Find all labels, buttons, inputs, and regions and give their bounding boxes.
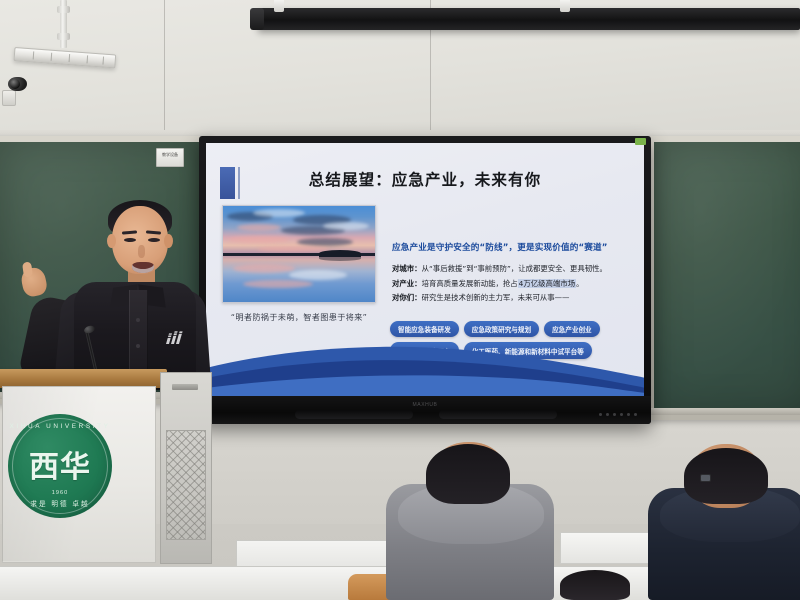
lecture-hall-photo: 教学设备 总结展望：应急产业，未来有你 xyxy=(0,0,800,600)
projector-screen-case xyxy=(258,8,800,30)
slide-wave-decor xyxy=(206,338,644,396)
university-emblem: XIHUA UNIVERSITY 西华 1960 求是 明德 卓越 xyxy=(8,414,112,518)
bullet-students-text: 研究生是技术创新的主力军，未来可从事—— xyxy=(422,293,570,302)
camera-lens-icon xyxy=(10,79,20,89)
speaker-ear xyxy=(164,234,173,248)
chalkboard-right xyxy=(648,136,800,420)
bullet-industry-highlight: 4万亿级高端市场 xyxy=(518,279,576,288)
pill-item: 智能应急装备研发 xyxy=(390,321,459,337)
display-vent xyxy=(295,410,413,419)
slide-lead-statement: 应急产业是守护安全的“防线”，更是实现价值的“赛道” xyxy=(392,241,636,253)
emblem-arc-text: XIHUA UNIVERSITY xyxy=(8,423,112,430)
ceiling-light-joint xyxy=(57,6,70,13)
pill-row: 智能应急装备研发 应急政策研究与规划 应急产业创业 xyxy=(390,321,644,337)
speaker-ear xyxy=(107,234,116,248)
bullet-students: 对你们：研究生是技术创新的主力军，未来可从事—— xyxy=(392,294,642,303)
pill-item: 应急政策研究与规划 xyxy=(464,321,539,337)
smart-display[interactable]: 总结展望：应急产业，未来有你 “明者 xyxy=(199,136,651,424)
adidas-logo-icon xyxy=(166,330,188,344)
board-equipment-label: 教学设备 xyxy=(156,148,184,167)
display-bezel: MAXHUB xyxy=(199,396,651,424)
screen-case-bracket xyxy=(560,0,570,12)
slide-bullet-list: 对城市：从“事后救援”到“事前预防”，让成都更安全、更具韧性。 对产业：培育高质… xyxy=(392,265,642,309)
wall-seam xyxy=(164,0,165,150)
ceiling-light-joint xyxy=(57,33,70,40)
emblem-year: 1960 xyxy=(8,490,112,496)
chalk-tray xyxy=(648,408,800,415)
bullet-industry-label: 对产业： xyxy=(392,279,422,288)
glasses-icon xyxy=(700,474,711,482)
cabinet-handle[interactable] xyxy=(172,384,198,390)
speaker-eye xyxy=(124,238,136,242)
audience-member-bottom xyxy=(560,570,630,600)
slide-title: 总结展望：应急产业，未来有你 xyxy=(206,168,644,190)
display-vent xyxy=(439,410,557,419)
audience-hair xyxy=(426,444,510,504)
speaker-eye xyxy=(148,238,160,242)
bullet-city: 对城市：从“事后救援”到“事前预防”，让成都更安全、更具韧性。 xyxy=(392,265,642,274)
audience-hair xyxy=(684,448,768,504)
sunset-lake-photo xyxy=(222,205,376,303)
screen-case-bracket xyxy=(274,0,284,12)
bullet-industry-text: 培育高质量发展新动能，抢占 xyxy=(422,279,518,288)
display-power-indicator xyxy=(635,138,646,145)
bullet-industry-tail: 。 xyxy=(576,279,583,288)
presentation-slide: 总结展望：应急产业，未来有你 “明者 xyxy=(206,143,644,396)
emblem-motto: 求是 明德 卓越 xyxy=(8,498,112,508)
camera-mount xyxy=(2,90,16,106)
bullet-students-label: 对你们： xyxy=(392,293,422,302)
bullet-city-text: 从“事后救援”到“事前预防”，让成都更安全、更具韧性。 xyxy=(422,264,607,273)
speaker-nose xyxy=(138,245,145,258)
screen-case-end xyxy=(250,8,264,30)
bullet-industry: 对产业：培育高质量发展新动能，抢占4万亿级高端市场。 xyxy=(392,280,642,289)
pill-item: 应急产业创业 xyxy=(544,321,600,337)
speaker-mouth xyxy=(132,262,154,273)
slide-quote: “明者防祸于未萌，智者图患于将来” xyxy=(214,311,384,323)
display-status-leds xyxy=(599,413,637,416)
cabinet-mesh-panel xyxy=(166,430,206,540)
display-brand-label: MAXHUB xyxy=(413,402,438,408)
bullet-city-label: 对城市： xyxy=(392,264,422,273)
emblem-glyph: 西华 xyxy=(8,442,112,486)
